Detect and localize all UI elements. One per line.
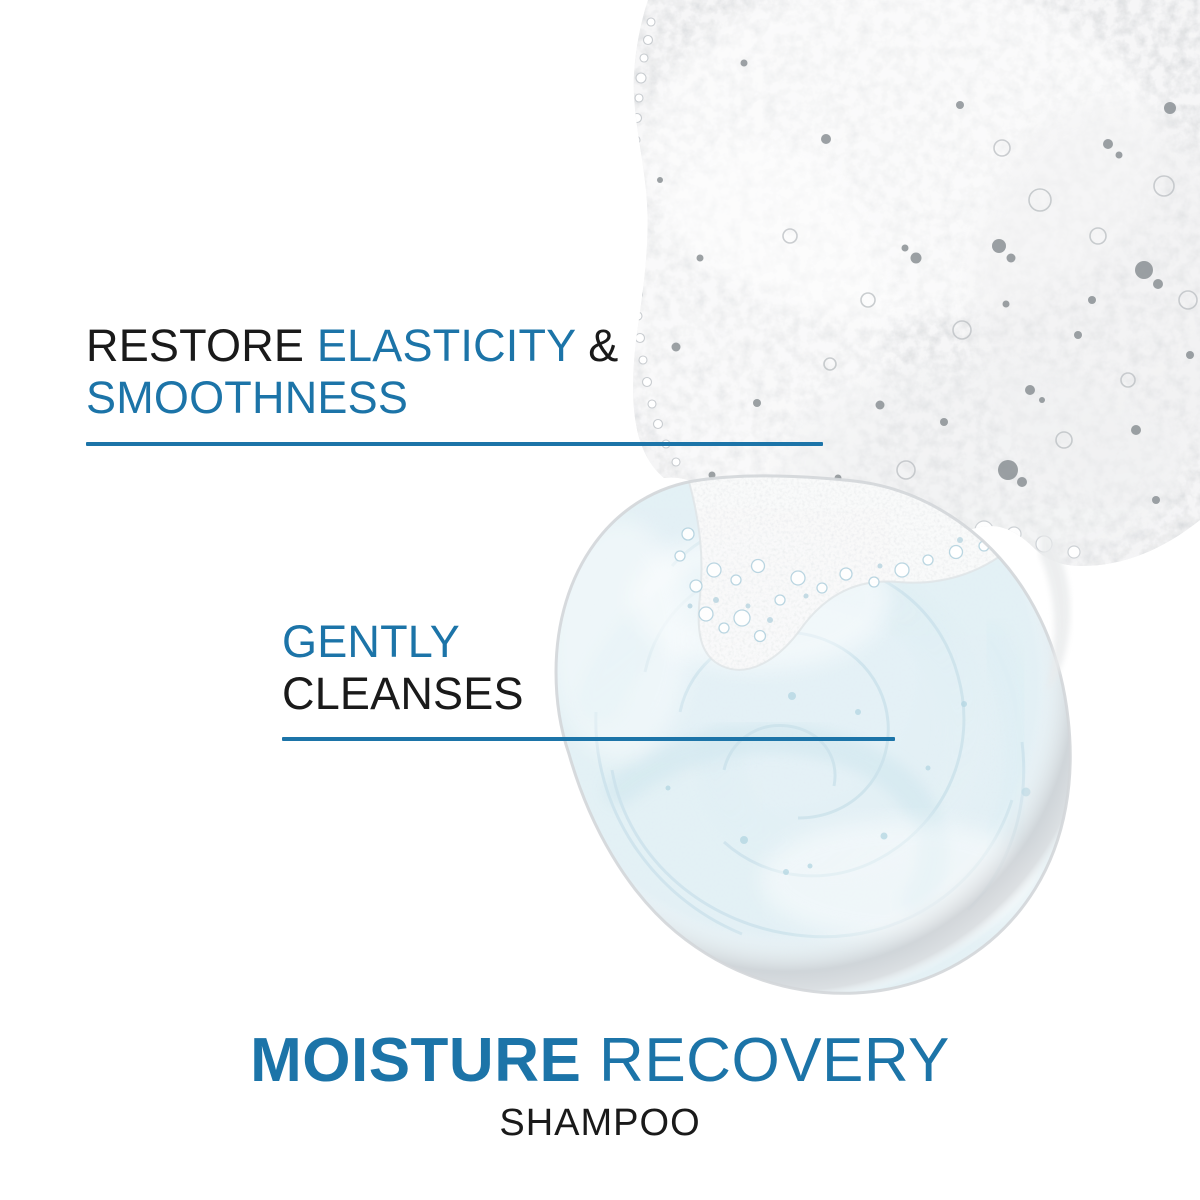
product-name-recovery: RECOVERY bbox=[581, 1026, 950, 1095]
callout-word-restore: RESTORE bbox=[86, 320, 317, 371]
product-lockup: MOISTURE RECOVERY SHAMPOO bbox=[0, 1026, 1200, 1144]
product-name: MOISTURE RECOVERY bbox=[0, 1026, 1200, 1096]
callout-line-1: RESTORE ELASTICITY & bbox=[86, 320, 823, 372]
callout-word-elasticity: ELASTICITY bbox=[317, 320, 576, 371]
product-type: SHAMPOO bbox=[0, 1102, 1200, 1144]
callout-restore-elasticity: RESTORE ELASTICITY & SMOOTHNESS bbox=[86, 320, 823, 446]
callout-gently-cleanses: GENTLY CLEANSES bbox=[282, 616, 895, 741]
callout-rule-cleanses bbox=[282, 737, 895, 741]
callout-word-ampersand: & bbox=[576, 320, 619, 371]
callout-word-smoothness: SMOOTHNESS bbox=[86, 372, 823, 424]
callout-word-cleanses: CLEANSES bbox=[282, 668, 895, 720]
callout-rule-elasticity bbox=[86, 442, 823, 446]
foam-lather bbox=[600, 0, 1200, 600]
product-marketing-image: RESTORE ELASTICITY & SMOOTHNESS GENTLY C… bbox=[0, 0, 1200, 1200]
callout-word-gently: GENTLY bbox=[282, 616, 895, 668]
product-imagery bbox=[0, 0, 1200, 1200]
product-name-moisture: MOISTURE bbox=[250, 1026, 581, 1095]
